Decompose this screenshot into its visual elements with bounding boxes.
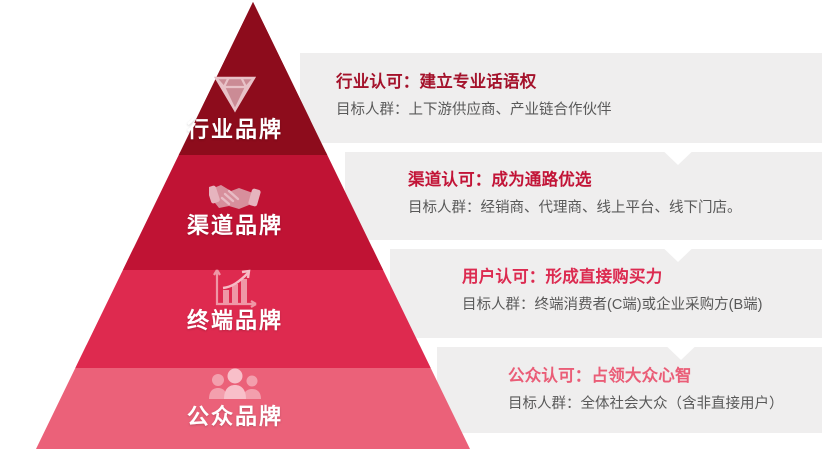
- diamond-icon: [0, 72, 470, 114]
- panel-public-title: 公众认可：占领大众心智: [508, 368, 692, 385]
- brand-pyramid-diagram: 行业认可：建立专业话语权 目标人群：上下游供应商、产业链合作伙伴 渠道认可：成为…: [0, 0, 822, 449]
- pyramid-graphic: 行业品牌 渠道品牌: [0, 0, 470, 449]
- panel-terminal-title: 用户认可：形成直接购买力: [462, 269, 662, 286]
- pyramid-tier-channel-label: 渠道品牌: [0, 215, 470, 237]
- panel-public-subtitle: 目标人群：全体社会大众（含非直接用户）: [508, 397, 784, 412]
- bar-chart-growth-icon: [0, 266, 470, 308]
- panel-terminal-subtitle: 目标人群：终端消费者(C端)或企业采购方(B端): [462, 298, 762, 313]
- handshake-icon: [0, 176, 470, 214]
- pyramid-tier-industry-label: 行业品牌: [0, 119, 470, 141]
- people-group-icon: [0, 364, 470, 400]
- pyramid-tier-public-label: 公众品牌: [0, 406, 470, 428]
- pyramid-tier-terminal-label: 终端品牌: [0, 310, 470, 332]
- panel-public: 公众认可：占领大众心智 目标人群：全体社会大众（含非直接用户）: [437, 347, 822, 433]
